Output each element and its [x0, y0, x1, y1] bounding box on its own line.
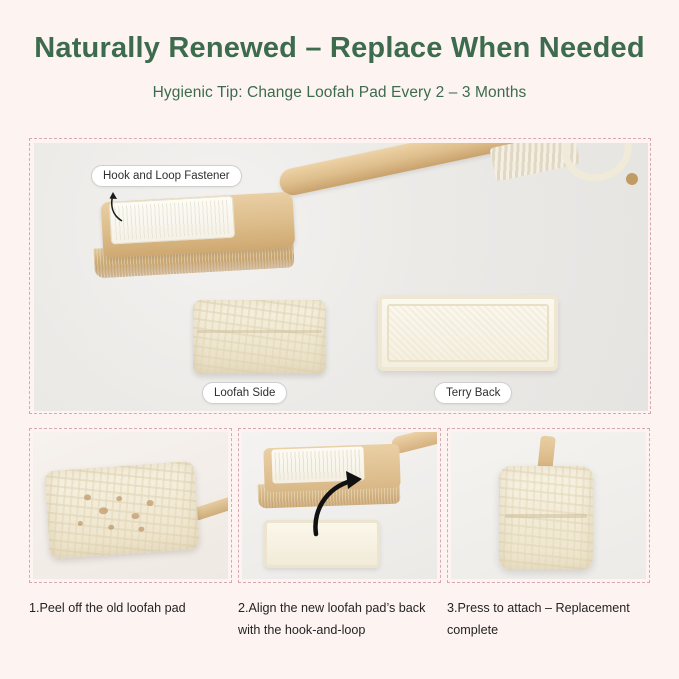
- product-infographic: Naturally Renewed – Replace When Needed …: [0, 0, 679, 679]
- hanging-hole: [625, 172, 639, 186]
- loofah-pad-loofah-side: [193, 300, 326, 374]
- step-panel-3: [447, 428, 650, 583]
- callout-arrow-icon: [106, 189, 130, 223]
- callout-terry-back: Terry Back: [434, 382, 512, 404]
- step-1-caption: 1.Peel off the old loofah pad: [29, 597, 242, 619]
- attach-arrow-icon: [304, 468, 374, 540]
- step-2-caption: 2.Align the new loofah pad’s back with t…: [238, 597, 451, 641]
- step-panel-1: [29, 428, 232, 583]
- step-1-photo: [33, 432, 228, 579]
- step-2-photo: [242, 432, 437, 579]
- callout-hook-and-loop: Hook and Loop Fastener: [91, 165, 242, 187]
- step-panel-2: [238, 428, 441, 583]
- main-product-photo: Hook and Loop Fastener Loofah Side Terry…: [34, 143, 648, 411]
- loofah-pad-terry-back: [378, 295, 558, 371]
- main-product-panel: Hook and Loop Fastener Loofah Side Terry…: [29, 138, 651, 414]
- step-3-caption: 3.Press to attach – Replacement complete: [447, 597, 660, 641]
- step3-attached-loofah-pad: [499, 466, 593, 570]
- step-3-photo: [451, 432, 646, 579]
- page-title: Naturally Renewed – Replace When Needed: [0, 32, 679, 65]
- callout-loofah-side: Loofah Side: [202, 382, 287, 404]
- page-subtitle: Hygienic Tip: Change Loofah Pad Every 2 …: [0, 84, 679, 102]
- old-loofah-pad: [44, 461, 200, 559]
